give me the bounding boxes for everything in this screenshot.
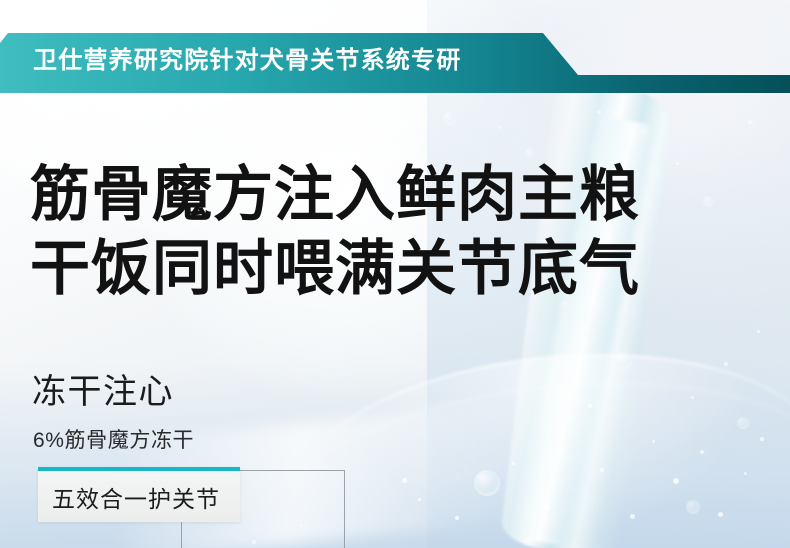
section-subtitle: 冻干注心 <box>32 370 174 414</box>
water-speck <box>545 505 550 510</box>
page-title-line-2: 干饭同时喂满关节底气 <box>30 232 640 306</box>
water-speck <box>760 437 764 441</box>
water-speck <box>498 126 501 129</box>
water-speck <box>600 468 604 472</box>
water-speck <box>673 478 679 484</box>
water-speck <box>556 430 559 433</box>
water-speck <box>724 362 728 366</box>
water-bubble <box>525 148 534 157</box>
water-speck <box>757 330 760 333</box>
water-bubble <box>474 470 500 496</box>
water-speck <box>744 472 747 475</box>
water-speck <box>748 120 752 124</box>
water-bubble <box>640 128 647 135</box>
water-speck <box>512 462 515 465</box>
water-speck <box>652 440 655 443</box>
water-speck <box>588 404 592 408</box>
water-bubble <box>443 112 456 125</box>
water-speck <box>691 396 694 399</box>
water-speck <box>597 110 601 114</box>
feature-tag-label: 五效合一护关节 <box>52 477 220 521</box>
water-bubble <box>614 352 632 370</box>
water-speck <box>418 498 421 501</box>
promo-poster: 卫仕营养研究院针对犬骨关节系统专研 筋骨魔方注入鲜肉主粮 干饭同时喂满关节底气 … <box>0 0 790 548</box>
water-speck <box>676 162 679 165</box>
water-speck <box>402 478 407 483</box>
water-bubble <box>737 417 749 429</box>
water-speck <box>455 516 459 520</box>
water-speck <box>718 512 723 517</box>
water-speck <box>700 450 704 454</box>
section-subtitle-note: 6%筋骨魔方冻干 <box>33 426 194 456</box>
page-title: 筋骨魔方注入鲜肉主粮 干饭同时喂满关节底气 <box>30 158 640 306</box>
water-bubble <box>703 196 714 207</box>
water-bubble <box>686 500 700 514</box>
page-title-line-1: 筋骨魔方注入鲜肉主粮 <box>30 158 640 232</box>
header-banner-label: 卫仕营养研究院针对犬骨关节系统专研 <box>33 33 461 93</box>
water-speck <box>630 514 635 519</box>
